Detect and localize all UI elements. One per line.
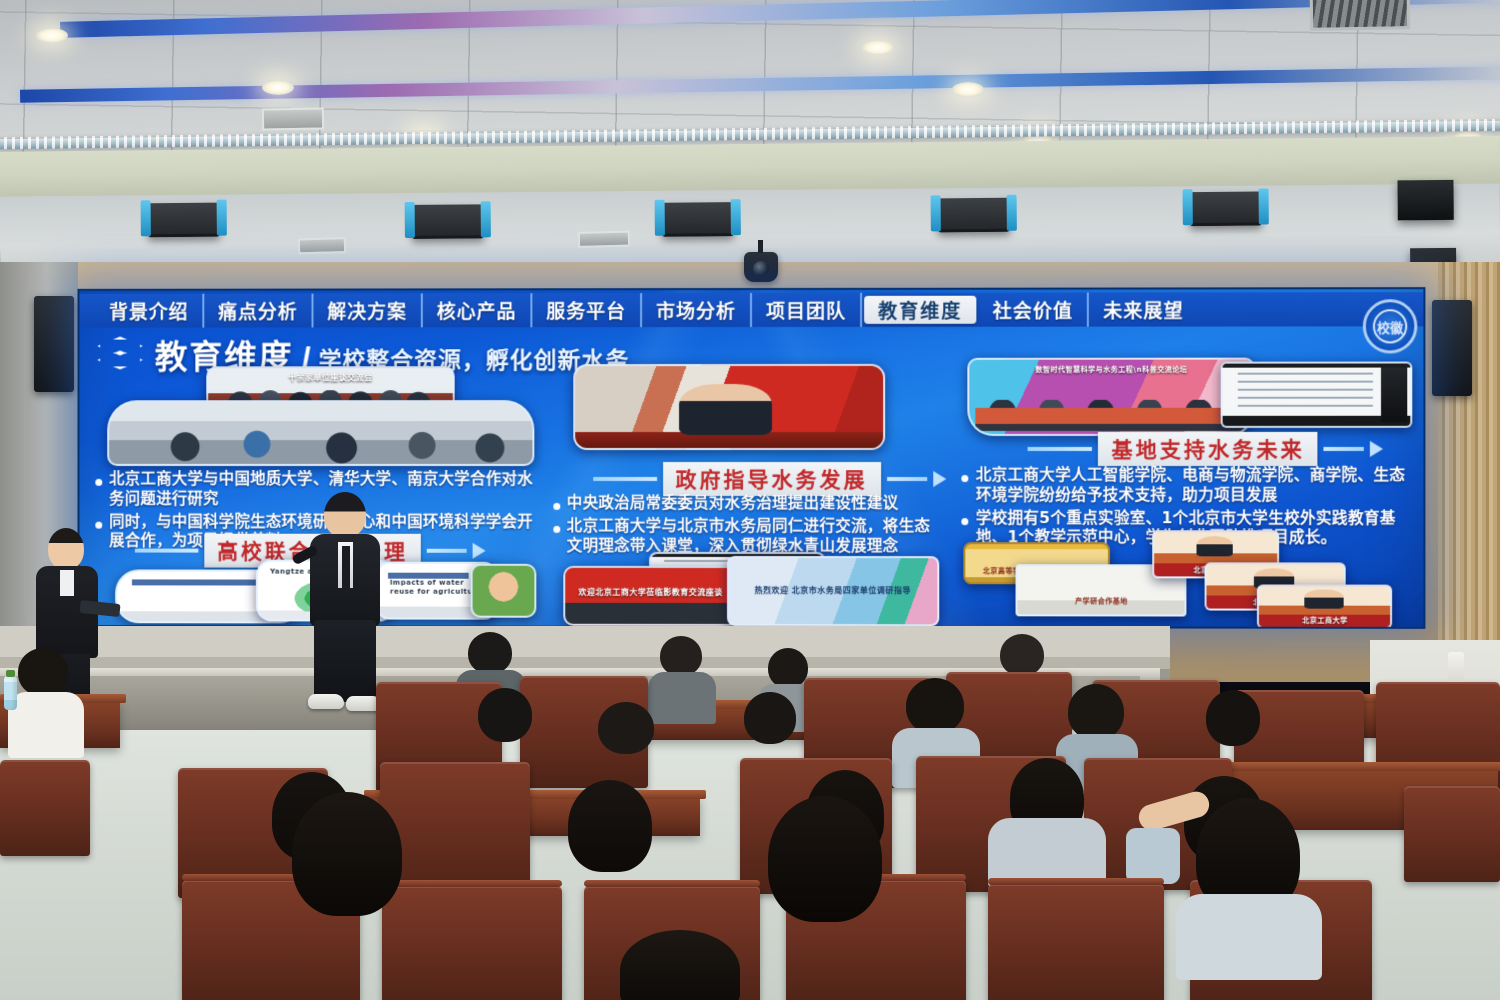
audience-shoulders [1176,894,1322,980]
bullet-item: 北京工商大学人工智能学院、电商与物流学院、商学院、生态环境学院纷纷给予技术支持，… [962,466,1417,506]
university-logo-icon: 校徽 [1363,299,1418,353]
auditorium-seat-top [584,880,760,887]
slide-nav-item-solution[interactable]: 解决方案 [314,293,423,327]
banner-arrow-icon [473,543,486,559]
ceiling-downlight [862,40,894,55]
slide-nav-item-future-outlook[interactable]: 未来展望 [1089,292,1198,326]
water-bottle [4,676,17,710]
auditorium-seat[interactable] [1404,786,1500,882]
side-speaker-right [1432,300,1472,396]
audience-desk-top [1222,762,1500,771]
audience-head [598,702,654,754]
air-vent [298,237,346,254]
banner-label: 政府指导水务发展 [663,462,881,496]
slide-nav-item-education-dimension[interactable]: 教育维度 [864,296,976,324]
banner-arrow-icon [1370,441,1383,457]
slide-nav-item-background[interactable]: 背景介绍 [95,294,204,328]
bullet-text: 北京工商大学人工智能学院、电商与物流学院、商学院、生态环境学院纷纷给予技术支持，… [976,466,1417,506]
ceiling-projector [938,198,1010,233]
audience-head [906,678,964,734]
photo-caption: 热烈欢迎 北京市水务局四家单位调研指导 [729,586,937,596]
slide-column-base: 数智时代智慧科学与水务工程\n科普交流论坛 基地支持水务未来 北京工商大学人工智… [956,366,1424,629]
ceiling-projector [412,204,484,239]
audience-head [468,632,512,674]
ceiling-projector [1190,192,1262,227]
audience-head [568,780,652,872]
banner-base: 基地支持水务未来 [1028,432,1383,466]
banner-label: 基地支持水务未来 [1098,432,1318,466]
slide-nav-bar: 背景介绍 痛点分析 解决方案 核心产品 服务平台 市场分析 项目团队 教育维度 … [79,292,1423,328]
bullet-item: 中央政治局常委委员对水务治理提出建设性建议 [553,494,937,514]
ceiling-downlight [262,80,294,95]
photo-welcome-red-banner: 欢迎北京工商大学莅临影教育交流座谈 [563,566,739,626]
air-vent [1310,0,1411,31]
presenter-on-stage [300,492,390,712]
led-video-wall: 背景介绍 痛点分析 解决方案 核心产品 服务平台 市场分析 项目团队 教育维度 … [78,287,1426,629]
audience-head [744,692,796,744]
photo-caption: 数智时代智慧科学与水务工程\n科普交流论坛 [970,366,1254,375]
host-head [48,528,84,570]
presenter-trousers [314,620,376,702]
photo-speaker-podium-3: 北京工商大学 [1257,584,1392,628]
slide-column-government: 政府指导水务发展 中央政治局常委委员对水务治理提出建设性建议 北京工商大学与北京… [545,366,956,629]
presenter-tie [342,546,350,588]
ptz-camera [744,252,778,282]
auditorium-seat[interactable] [0,760,90,856]
slide-columns: 十余家单位座谈交流会 北京工商大学与中国地质大学、清华大学、南京大学合作对水务问… [79,366,1423,629]
auditorium-seat[interactable] [380,762,530,896]
slide-nav-item-project-team[interactable]: 项目团队 [752,293,862,327]
audience-head [768,796,882,922]
ceiling-downlight [952,82,984,97]
audience-head [18,648,68,696]
banner-line-right [1324,447,1364,451]
ceiling-projector [662,202,734,237]
photo-official-meeting [573,364,885,450]
audience-head [1068,684,1124,740]
banner-line-left [1028,447,1092,451]
bullet-dot-icon [962,518,969,525]
banner-line-left [593,477,657,481]
side-speaker-left [34,296,74,392]
audience-head [292,792,402,916]
photo-welcome-blue-banner: 热烈欢迎 北京市水务局四家单位调研指导 [727,556,939,626]
ceiling-downlight [36,28,68,43]
audience-shoulders [1126,828,1180,884]
audience-head [1206,690,1260,746]
slide-nav-item-service-platform[interactable]: 服务平台 [532,293,642,327]
photo-caption: 十余家单位座谈交流会 [208,373,452,383]
auditorium-seat[interactable] [988,884,1164,1000]
university-logo-inner: 校徽 [1373,309,1407,343]
auditorium-seat-top [988,878,1164,885]
bullet-list-government: 中央政治局常委委员对水务治理提出建设性建议 北京工商大学与北京市水务局同仁进行交… [553,494,937,560]
photo-remote-participant [471,564,537,618]
bullet-item: 北京工商大学与北京市水务局同仁进行交流，将生态文明理念带入课堂，深入贯彻绿水青山… [553,517,937,557]
ceiling-speaker [1397,180,1453,220]
banner-line-left [135,549,198,553]
bullet-dot-icon [553,526,560,533]
photo-caption: 产学研合作基地 [1018,597,1185,606]
bullet-text: 中央政治局常委委员对水务治理提出建设性建议 [567,494,899,514]
audience-head [768,648,808,688]
banner-government: 政府指导水务发展 [593,462,946,496]
auditorium-seat[interactable] [382,886,562,1000]
screenshot-root: 背景介绍 痛点分析 解决方案 核心产品 服务平台 市场分析 项目团队 教育维度 … [0,0,1500,1000]
slide-nav-item-social-value[interactable]: 社会价值 [979,293,1089,327]
audience-shoulders [8,692,84,758]
slide-nav-item-market-analysis[interactable]: 市场分析 [642,293,752,327]
audience-head [478,688,532,742]
photo-laptop-dashboard [1221,362,1413,428]
slide-nav-item-painpoints[interactable]: 痛点分析 [204,294,313,328]
banner-line-right [887,477,927,481]
bullet-dot-icon [95,479,102,486]
audience-head [660,636,702,676]
presenter-shoe-left [308,694,344,709]
bullet-text: 北京工商大学与北京市水务局同仁进行交流，将生态文明理念带入课堂，深入贯彻绿水青山… [567,517,937,557]
ceiling-projector [148,203,220,238]
air-vent [262,107,324,130]
auditorium-seat-top [382,880,562,887]
bullet-dot-icon [962,475,969,482]
banner-line-right [427,549,467,553]
photo-forum-panel: 数智时代智慧科学与水务工程\n科普交流论坛 [968,358,1256,436]
photo-caption: 欢迎北京工商大学莅临影教育交流座谈 [565,588,737,598]
photo-caption: 北京工商大学 [1259,616,1390,625]
audience-head [1000,634,1044,676]
slide-nav-item-core-product[interactable]: 核心产品 [423,293,533,327]
banner-arrow-icon [933,471,946,487]
bullet-dot-icon [553,503,560,510]
photo-lab-visit [107,400,534,466]
audience-shoulders [648,672,716,724]
wall-sconce [1448,652,1464,682]
host-shirt [60,570,74,596]
air-vent [578,231,630,248]
audience-head [620,930,740,1000]
presenter-head [324,492,366,538]
